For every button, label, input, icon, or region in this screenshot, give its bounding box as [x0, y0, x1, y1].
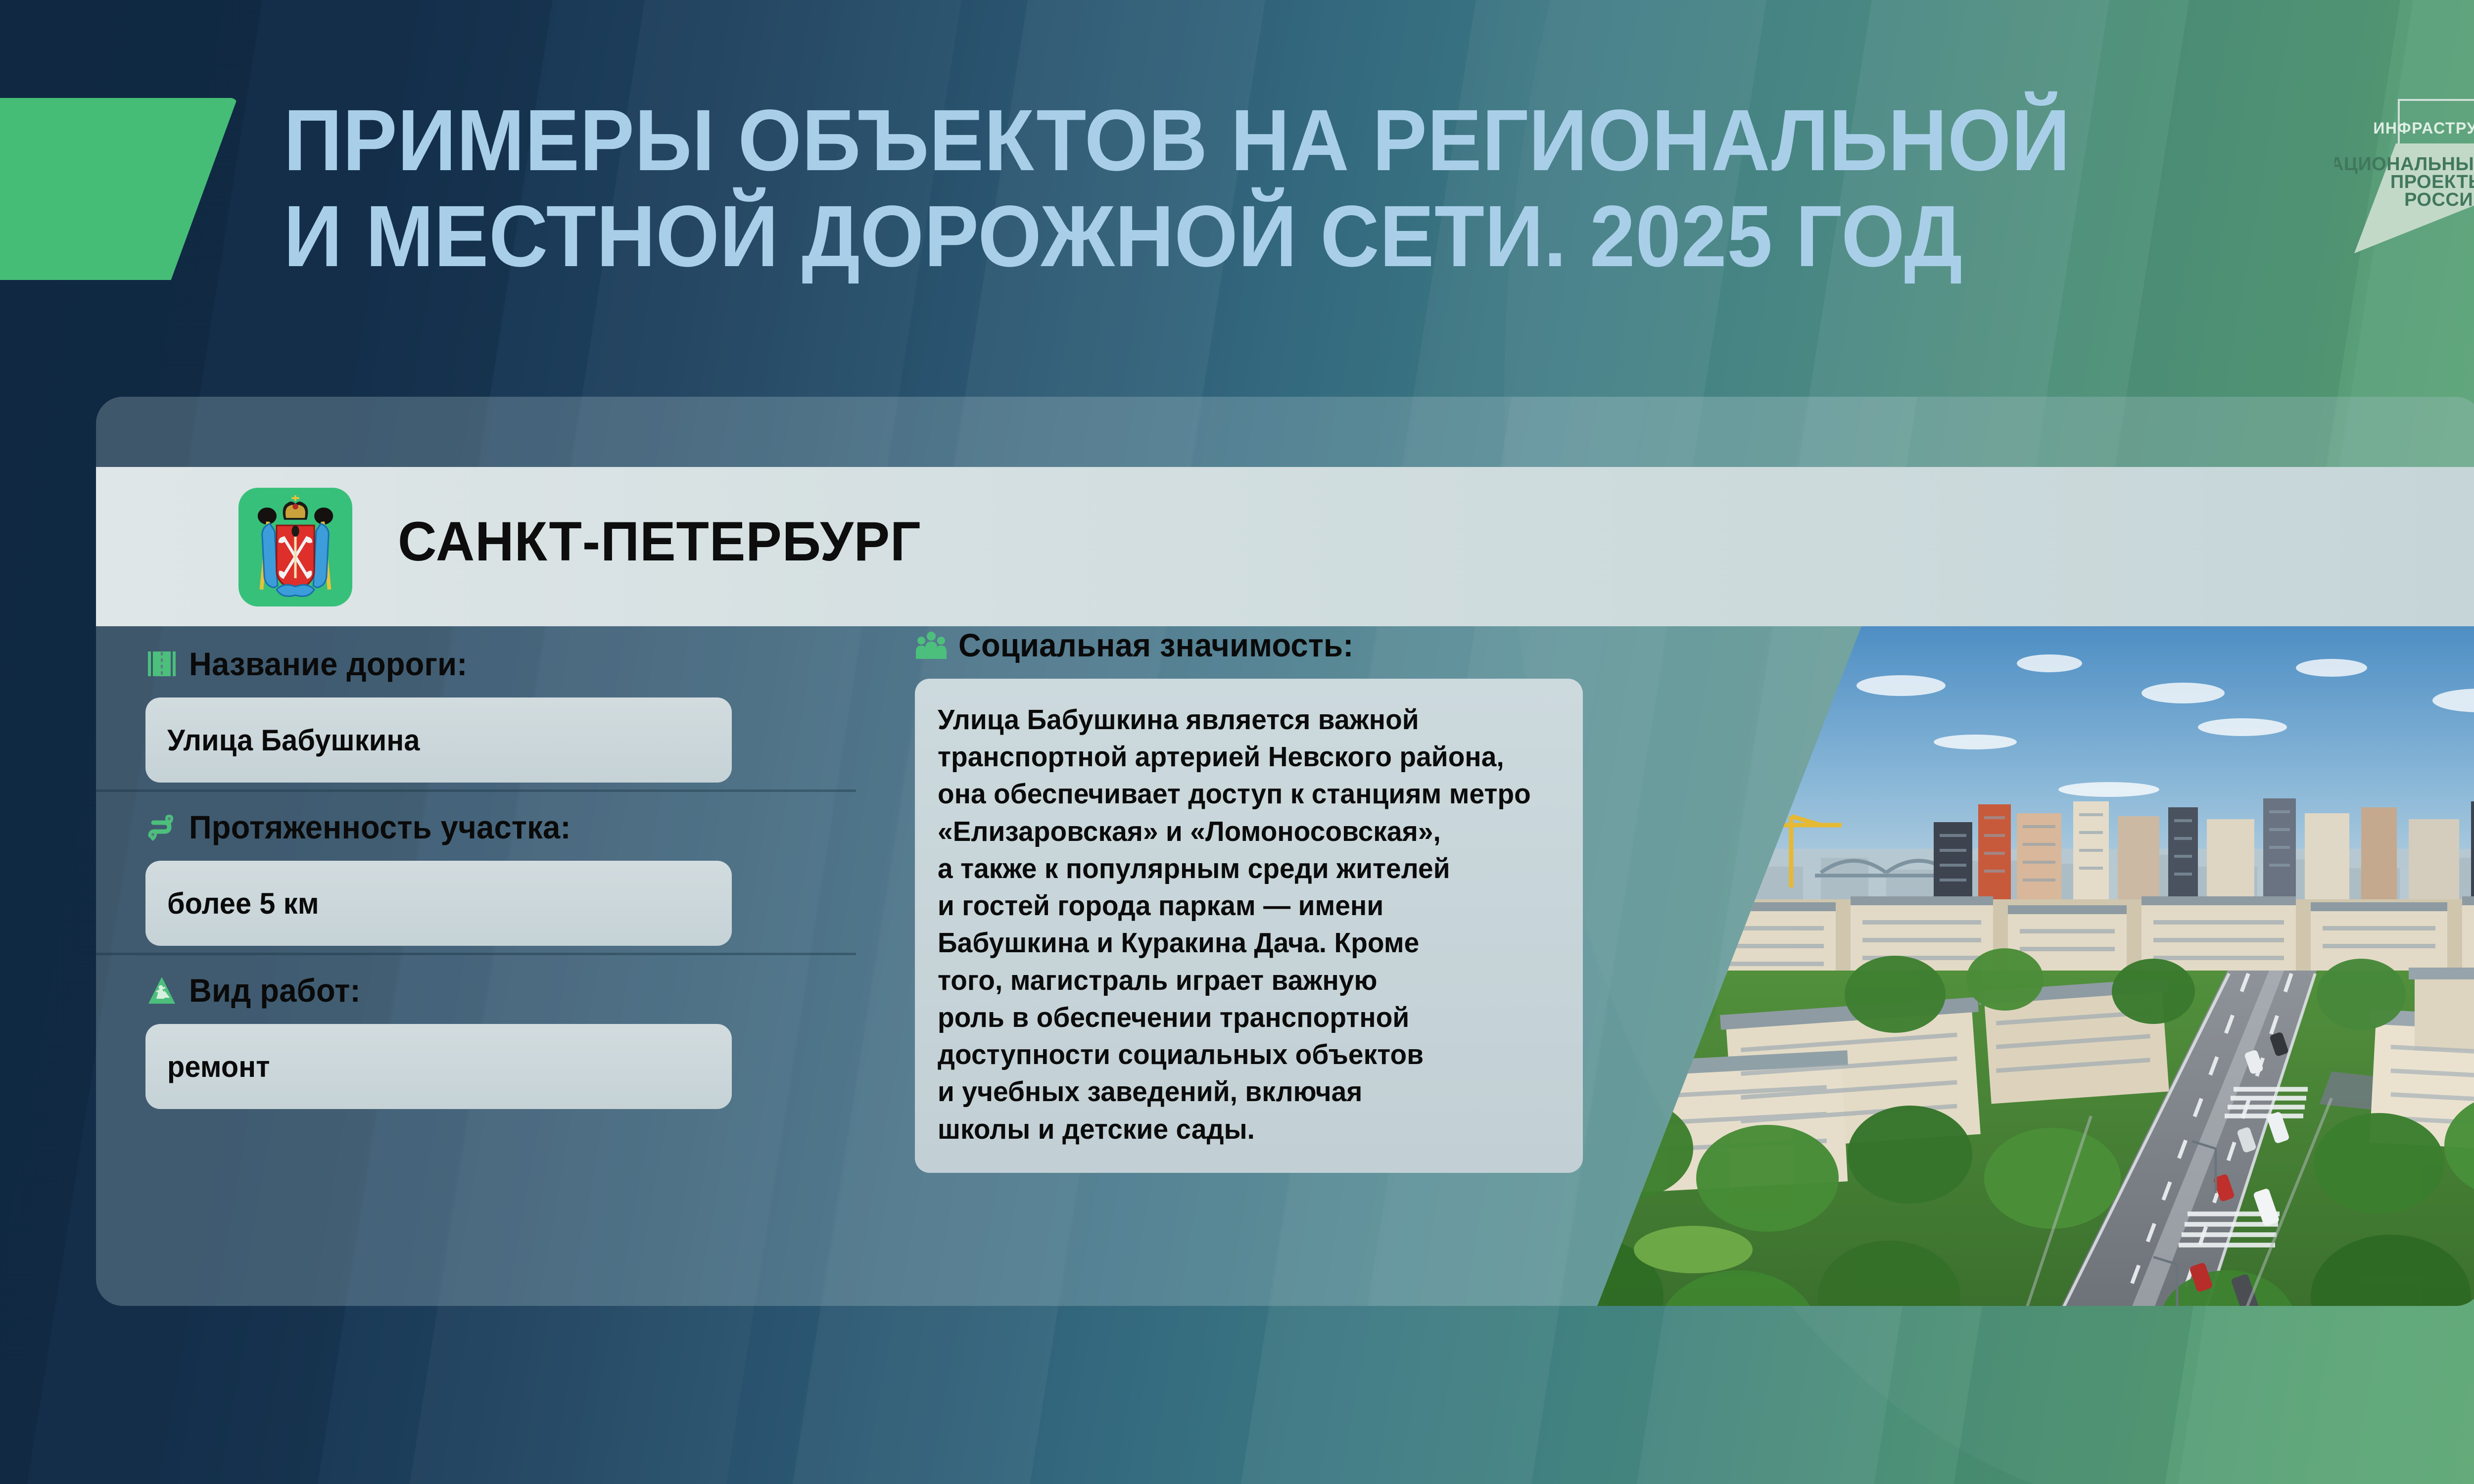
social-text: Улица Бабушкина является важной транспор… — [938, 701, 1538, 1148]
coat-of-arms-icon — [238, 488, 352, 606]
field-label: Вид работ: — [189, 972, 361, 1009]
social-text-box: Улица Бабушкина является важной транспор… — [915, 679, 1583, 1173]
field-value: более 5 км — [167, 886, 319, 921]
field-work-type: Вид работ: ремонт — [145, 953, 818, 1109]
city-name: САНКТ-ПЕТЕРБУРГ — [398, 510, 921, 573]
field-divider — [96, 789, 856, 792]
people-group-icon — [915, 629, 948, 661]
card-body: Название дороги: Улица Бабушкина — [96, 626, 2474, 1306]
field-label-row: Вид работ: — [145, 972, 818, 1009]
field-value: Улица Бабушкина — [167, 723, 420, 757]
social-significance-column: Социальная значимость: Улица Бабушкина я… — [915, 626, 1618, 1173]
roadworks-icon — [145, 974, 178, 1007]
road-icon — [145, 648, 178, 680]
page-title-line-1: ПРИМЕРЫ ОБЪЕКТОВ НА РЕГИОНАЛЬНОЙ — [284, 93, 2051, 189]
attributes-column: Название дороги: Улица Бабушкина — [145, 626, 818, 1109]
logo-text-infrastructure: ИНФРАСТРУКТУРА — [2373, 119, 2474, 137]
field-value: ремонт — [167, 1050, 270, 1084]
city-photo — [1530, 626, 2474, 1306]
field-value-box: ремонт — [145, 1024, 732, 1109]
page-title-line-2: И МЕСТНОЙ ДОРОЖНОЙ СЕТИ. 2025 ГОД — [284, 189, 2051, 285]
logo-text-line3: РОССИИ — [2404, 189, 2474, 210]
region-card: САНКТ-ПЕТЕРБУРГ — [96, 397, 2474, 1306]
field-divider — [96, 953, 856, 955]
field-section-length: Протяженность участка: более 5 км — [145, 789, 818, 946]
field-label-row: Название дороги: — [145, 645, 818, 683]
field-label: Название дороги: — [189, 645, 468, 683]
field-value-box: Улица Бабушкина — [145, 697, 732, 783]
field-road-name: Название дороги: Улица Бабушкина — [145, 626, 818, 783]
social-label: Социальная значимость: — [958, 626, 1353, 664]
national-projects-logo: ИНФРАСТРУКТУРА НАЦИОНАЛЬНЫЕ ПРОЕКТЫ РОСС… — [2334, 80, 2474, 274]
field-label-row: Протяженность участка: — [145, 808, 818, 846]
page-title: ПРИМЕРЫ ОБЪЕКТОВ НА РЕГИОНАЛЬНОЙ И МЕСТН… — [284, 93, 2051, 284]
route-length-icon — [145, 811, 178, 843]
social-label-row: Социальная значимость: — [915, 626, 1618, 664]
field-value-box: более 5 км — [145, 861, 732, 946]
field-label: Протяженность участка: — [189, 808, 571, 846]
